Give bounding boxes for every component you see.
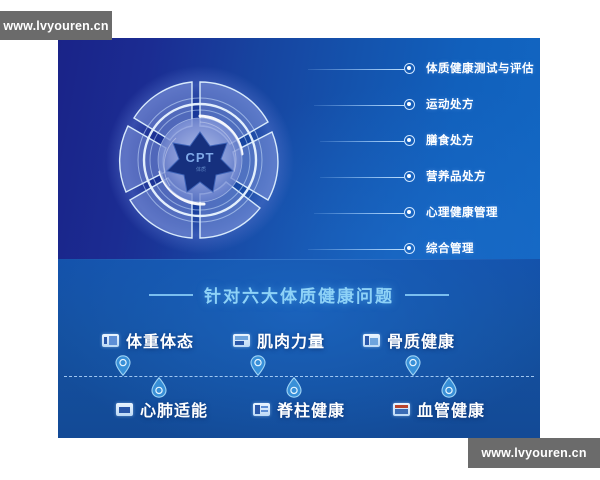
watermark-bottom-right: www.lvyouren.cn: [468, 438, 600, 468]
problem-label: 脊柱健康: [277, 397, 345, 421]
service-row[interactable]: 营养品处方: [308, 160, 540, 196]
map-pin-icon: [115, 355, 131, 376]
ring-dot-icon: [404, 207, 415, 218]
heading-rule-right: [405, 294, 449, 296]
problem-item[interactable]: 骨质健康: [363, 328, 455, 352]
service-list: 体质健康测试与评估 运动处方 膳食处方 营养品处方 心理健康管理: [308, 52, 540, 268]
problem-label: 体重体态: [126, 328, 194, 352]
connector-line: [320, 177, 404, 178]
central-ring-graphic: CPT 体质: [100, 60, 300, 260]
ring-dot-icon: [404, 171, 415, 182]
map-pin-icon: [405, 355, 421, 376]
scale-icon: [102, 334, 119, 347]
connector-line: [320, 141, 404, 142]
map-pin-icon: [250, 355, 266, 376]
section-heading: 针对六大体质健康问题: [58, 282, 540, 307]
water-drop-icon: [441, 377, 457, 398]
watermark-top-left: www.lvyouren.cn: [0, 11, 112, 40]
vessel-card-icon: [393, 403, 410, 416]
problem-label: 骨质健康: [387, 328, 455, 352]
service-label: 心理健康管理: [426, 204, 498, 220]
heading-rule-left: [149, 294, 193, 296]
service-row[interactable]: 膳食处方: [308, 124, 540, 160]
service-row[interactable]: 体质健康测试与评估: [308, 52, 540, 88]
connector-line: [308, 69, 404, 70]
service-label: 体质健康测试与评估: [426, 60, 534, 76]
problem-label: 心肺适能: [140, 397, 208, 421]
poster-body: CPT 体质 体质健康测试与评估 运动处方 膳食处方: [58, 38, 540, 438]
water-drop-icon: [286, 377, 302, 398]
bone-card-icon: [363, 334, 380, 347]
service-label: 运动处方: [426, 96, 474, 112]
ring-dot-icon: [404, 63, 415, 74]
service-label: 综合管理: [426, 240, 474, 256]
problem-item[interactable]: 心肺适能: [116, 397, 208, 421]
ring-dot-icon: [404, 243, 415, 254]
connector-line: [314, 213, 404, 214]
spine-card-icon: [253, 403, 270, 416]
problem-item[interactable]: 脊柱健康: [253, 397, 345, 421]
muscle-card-icon: [233, 334, 250, 347]
water-drop-icon: [151, 377, 167, 398]
service-row[interactable]: 心理健康管理: [308, 196, 540, 232]
service-row[interactable]: 综合管理: [308, 232, 540, 268]
problem-item[interactable]: 体重体态: [102, 328, 194, 352]
service-row[interactable]: 运动处方: [308, 88, 540, 124]
svg-text:CPT: CPT: [186, 150, 215, 165]
problem-label: 血管健康: [417, 397, 485, 421]
connector-line: [314, 105, 404, 106]
problem-item[interactable]: 肌肉力量: [233, 328, 325, 352]
poster-canvas: CPT 体质 体质健康测试与评估 运动处方 膳食处方: [0, 0, 600, 480]
ring-dot-icon: [404, 99, 415, 110]
service-label: 营养品处方: [426, 168, 486, 184]
ring-dot-icon: [404, 135, 415, 146]
problem-item[interactable]: 血管健康: [393, 397, 485, 421]
lung-card-icon: [116, 403, 133, 416]
svg-text:体质: 体质: [196, 166, 206, 173]
problem-label: 肌肉力量: [257, 328, 325, 352]
service-label: 膳食处方: [426, 132, 474, 148]
heading-text: 针对六大体质健康问题: [204, 282, 394, 307]
connector-line: [308, 249, 404, 250]
